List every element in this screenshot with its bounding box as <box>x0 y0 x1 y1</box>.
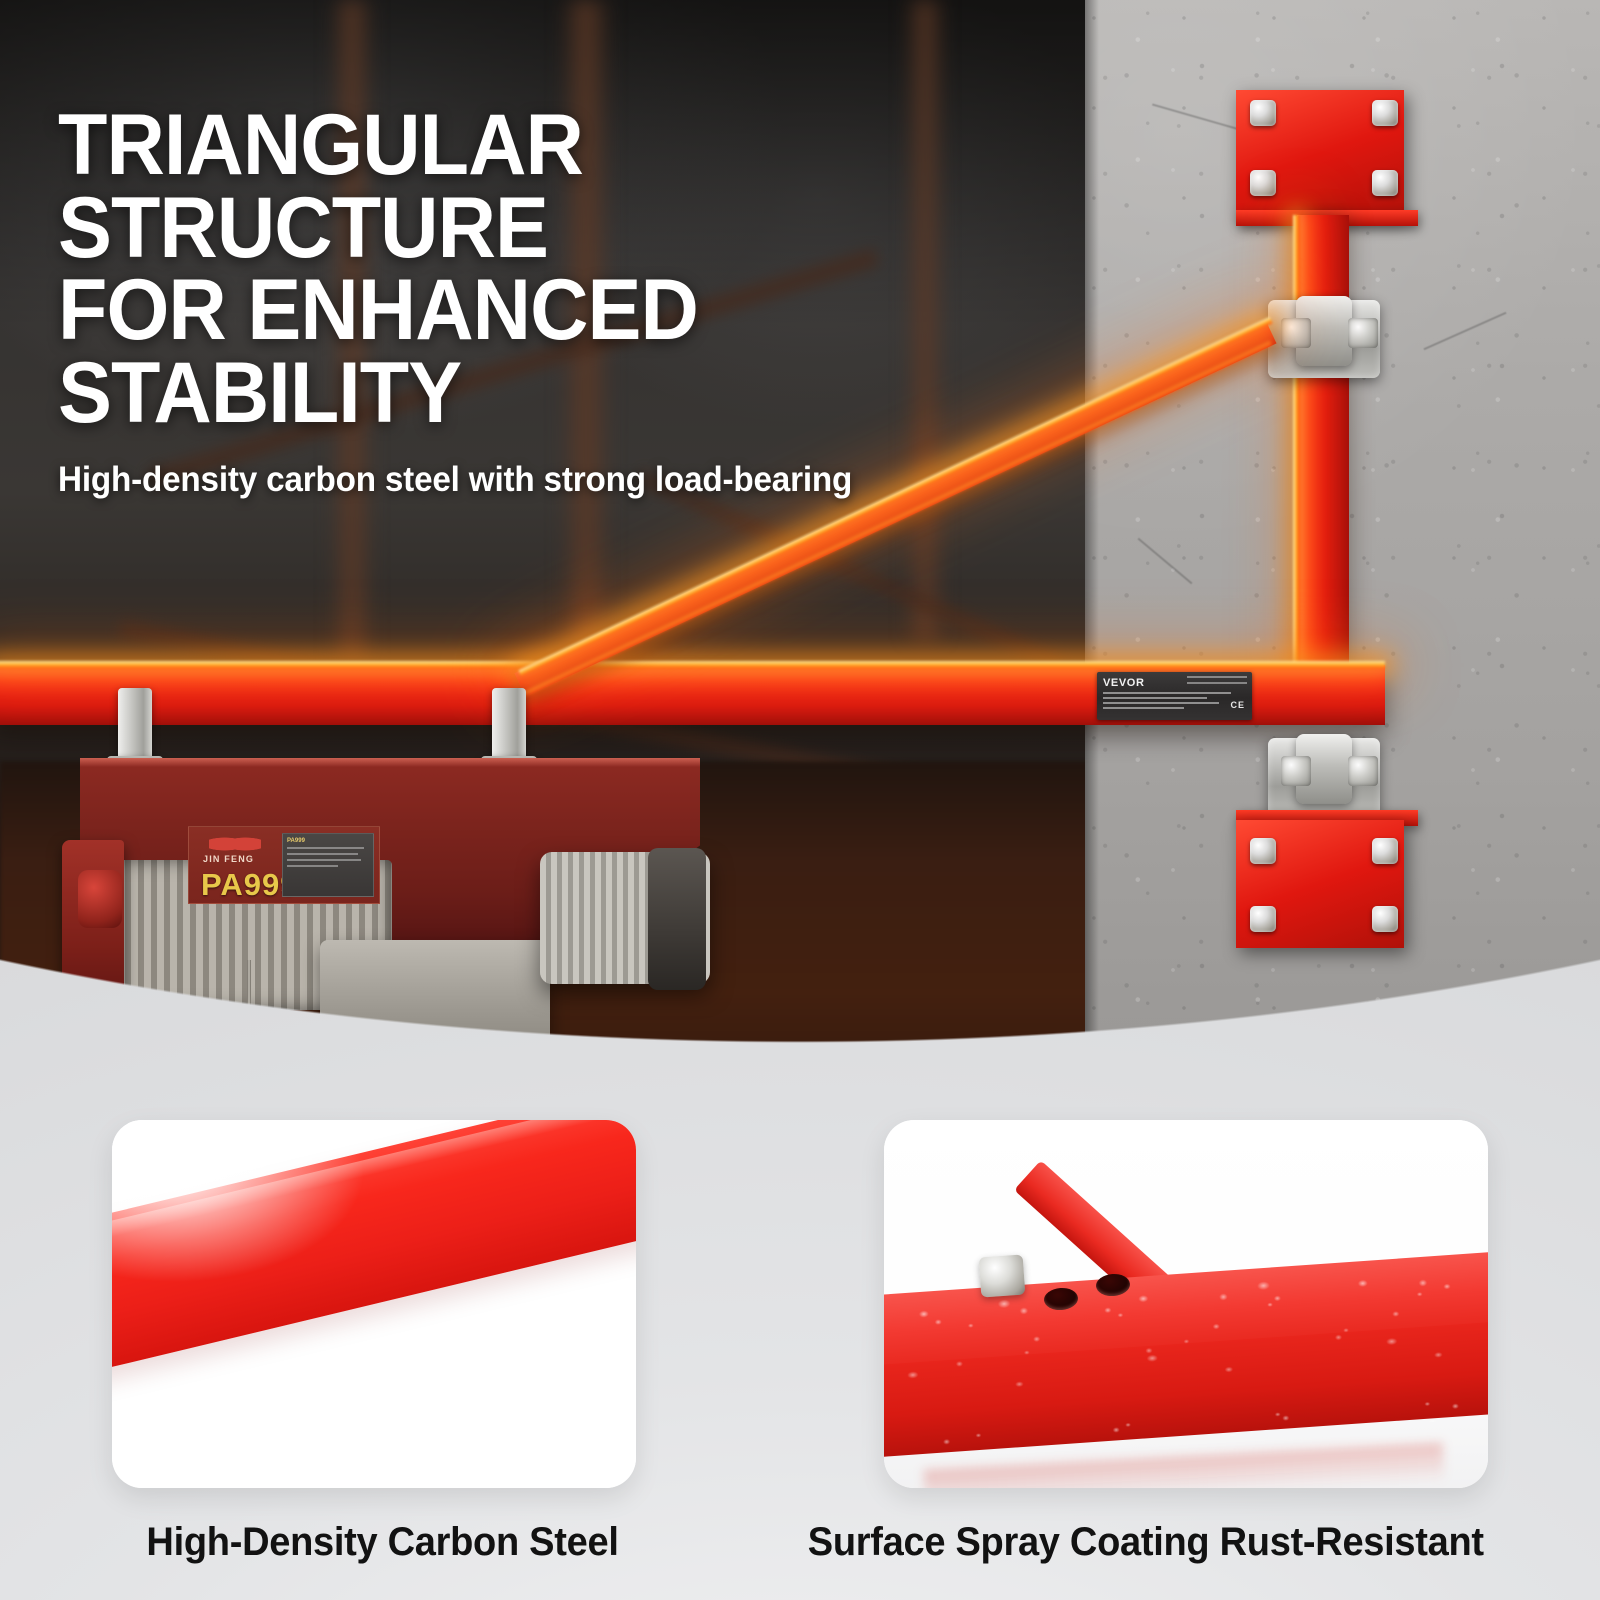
mount-bolt-icon <box>1372 838 1398 864</box>
hoist-gearbox <box>320 940 550 1090</box>
mount-bolt-icon <box>1250 838 1276 864</box>
feature-card-spray-coating <box>884 1120 1488 1488</box>
clamp-bolt-icon <box>1281 318 1311 348</box>
hoist-knob <box>78 870 122 928</box>
carbon-steel-beam-image <box>112 1120 636 1488</box>
hoist-id-label: JIN FENG PA999 PA999 <box>188 826 380 904</box>
headline-line-2: FOR ENHANCED STABILITY <box>58 269 998 434</box>
feature-card-carbon-steel <box>112 1120 636 1488</box>
subheadline: High-density carbon steel with strong lo… <box>58 460 1008 500</box>
vertical-post <box>1297 215 1349 685</box>
spec-plate-right-lines <box>1187 676 1247 688</box>
mount-bolt-icon <box>1372 170 1398 196</box>
arm-edge-glow <box>0 661 1385 669</box>
spec-plate-brand: VEVOR <box>1103 677 1145 689</box>
clamp-bolt-icon <box>1348 318 1378 348</box>
caption-spray-coating: Surface Spray Coating Rust-Resistant <box>808 1520 1484 1565</box>
hoist-brand-text: JIN FENG <box>203 854 254 864</box>
beam-reflection <box>923 1442 1444 1488</box>
headline-line-1: TRIANGULAR STRUCTURE <box>58 104 998 269</box>
mount-bolt-icon <box>1250 170 1276 196</box>
ce-mark-icon: CE <box>1230 700 1245 710</box>
hero-text-block: TRIANGULAR STRUCTURE FOR ENHANCED STABIL… <box>58 104 1058 500</box>
hero-banner: VEVOR CE <box>0 0 1600 1092</box>
feature-cards <box>0 1120 1600 1520</box>
arm-spec-plate: VEVOR CE <box>1097 672 1252 720</box>
mount-bolt-icon <box>1250 100 1276 126</box>
image-corner-fade <box>112 1120 636 1488</box>
trolley-clamp <box>492 688 526 762</box>
trolley-clamp <box>118 688 152 762</box>
hoist-spec-title: PA999 <box>287 838 369 844</box>
steel-cable <box>247 960 251 1092</box>
wet-beam-image <box>884 1120 1488 1488</box>
post-edge-glow <box>1293 215 1300 685</box>
mount-bolt-icon <box>1372 100 1398 126</box>
clamp-bolt-icon <box>1348 756 1378 786</box>
jin-feng-logo-icon <box>209 833 261 855</box>
clamp-bolt-icon <box>1281 756 1311 786</box>
hoist-spec-tag: PA999 <box>282 833 374 897</box>
mount-bolt-icon <box>1372 906 1398 932</box>
spec-plate-text-lines <box>1103 692 1248 712</box>
hoist-top-highlight <box>80 758 700 767</box>
motor-end-cap <box>648 848 706 990</box>
caption-carbon-steel: High-Density Carbon Steel <box>146 1520 618 1565</box>
mount-bolt-icon <box>1250 906 1276 932</box>
hex-bolt-icon <box>979 1255 1026 1298</box>
